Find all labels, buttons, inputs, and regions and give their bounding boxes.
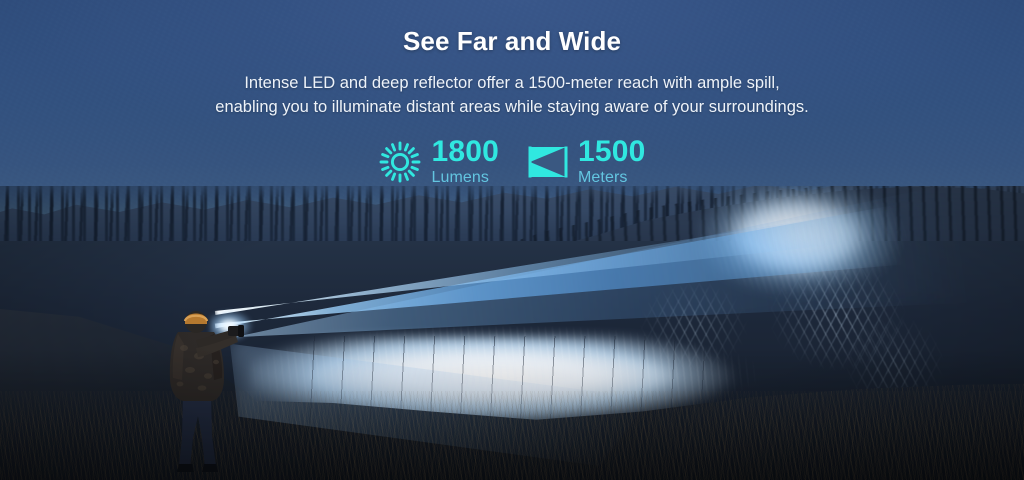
spec-value-lumens: 1800 — [431, 137, 499, 167]
feature-copy-block: See Far and Wide Intense LED and deep re… — [0, 0, 1024, 186]
feature-description: Intense LED and deep reflector offer a 1… — [0, 72, 1024, 120]
beam-throw-icon — [527, 143, 569, 181]
person-with-flashlight — [152, 288, 244, 478]
night-landscape-photo — [0, 186, 1024, 480]
description-line-1: Intense LED and deep reflector offer a 1… — [0, 72, 1024, 96]
spec-text-meters: 1500 Meters — [578, 137, 646, 186]
foreground-stalks — [300, 336, 720, 446]
spec-text-lumens: 1800 Lumens — [431, 137, 499, 186]
product-feature-banner: See Far and Wide Intense LED and deep re… — [0, 0, 1024, 480]
spec-value-meters: 1500 — [578, 137, 646, 167]
spec-badge-meters: 1500 Meters — [527, 137, 646, 186]
spec-unit-lumens: Lumens — [431, 170, 499, 186]
spec-unit-meters: Meters — [578, 170, 646, 186]
spec-badge-lumens: 1800 Lumens — [378, 137, 499, 186]
spec-badge-group: 1800 Lumens 1500 Meters — [0, 137, 1024, 186]
page-title: See Far and Wide — [0, 27, 1024, 56]
description-line-2: enabling you to illuminate distant areas… — [0, 96, 1024, 120]
sun-icon — [378, 140, 422, 184]
